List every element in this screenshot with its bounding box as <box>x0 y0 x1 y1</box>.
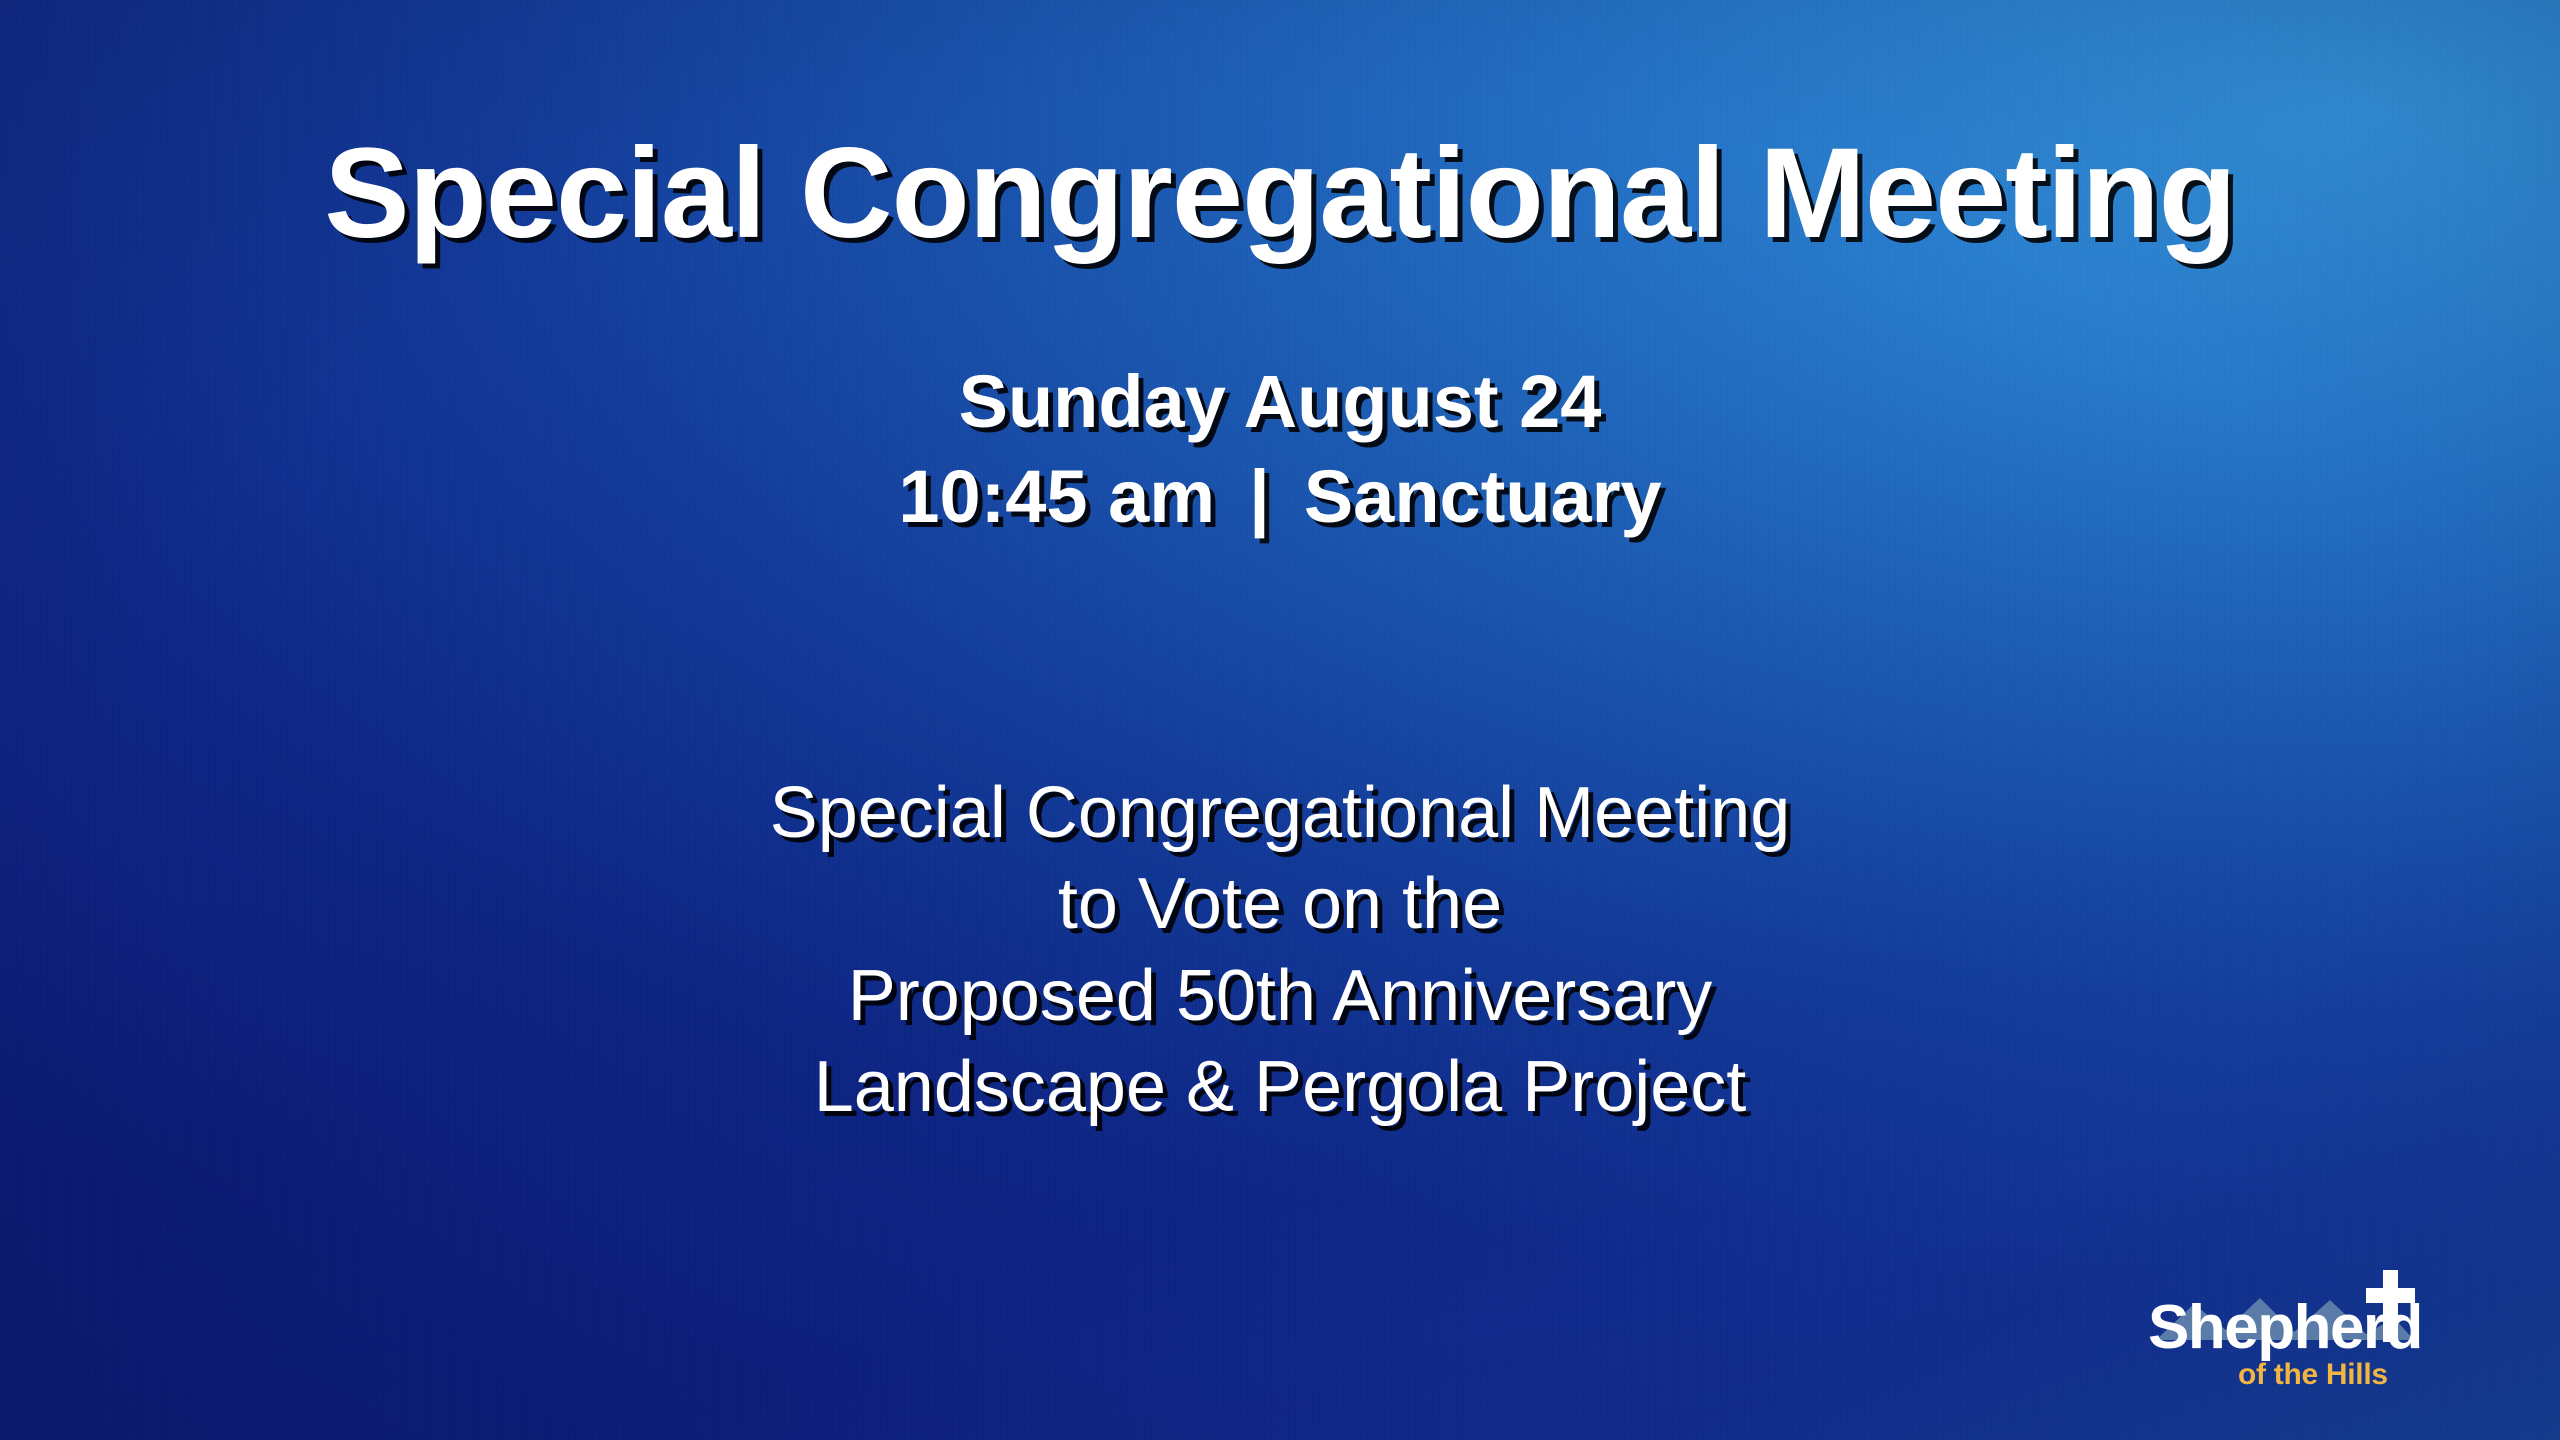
page-title: Special Congregational Meeting <box>0 122 2560 265</box>
detail-separator: | <box>1215 450 1304 545</box>
meeting-date: Sunday August 24 <box>0 355 2560 450</box>
church-logo: Shepherd of the Hills <box>2142 1262 2472 1394</box>
description-line: Proposed 50th Anniversary <box>0 951 2560 1042</box>
meeting-location: Sanctuary <box>1304 455 1662 538</box>
meeting-details: Sunday August 24 10:45 am|Sanctuary <box>0 355 2560 544</box>
description-line: to Vote on the <box>0 859 2560 950</box>
meeting-time-location: 10:45 am|Sanctuary <box>0 450 2560 545</box>
meeting-time: 10:45 am <box>898 455 1215 538</box>
logo-secondary-text: of the Hills <box>2238 1358 2388 1391</box>
description-line: Landscape & Pergola Project <box>0 1042 2560 1133</box>
description-line: Special Congregational Meeting <box>0 768 2560 859</box>
logo-primary-text: Shepherd <box>2148 1293 2422 1362</box>
announcement-slide: Special Congregational Meeting Sunday Au… <box>0 0 2560 1440</box>
meeting-description: Special Congregational Meeting to Vote o… <box>0 768 2560 1134</box>
slide-content: Special Congregational Meeting Sunday Au… <box>0 0 2560 1440</box>
